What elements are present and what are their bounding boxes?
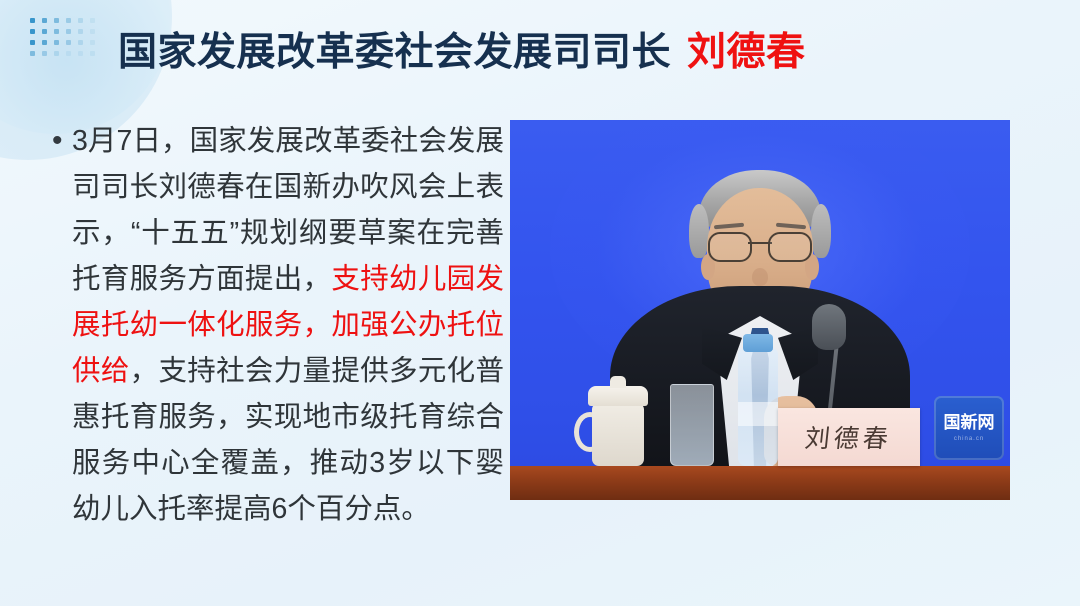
bullet-glyph: • [52, 118, 72, 164]
hair-side-right [811, 204, 831, 258]
tea-mug [592, 404, 644, 466]
dot [78, 40, 83, 45]
dot [90, 29, 95, 34]
press-conference-photo: 刘德春 国新网 china.cn [510, 120, 1010, 500]
dot [54, 40, 59, 45]
microphone-icon [812, 304, 846, 350]
page-title-main: 国家发展改革委社会发展司司长 [118, 33, 671, 72]
dot [78, 51, 83, 56]
glasses-icon [708, 232, 812, 258]
dot [42, 29, 47, 34]
badge-label: 国新网 [944, 414, 995, 431]
body-paragraph: • 3月7日，国家发展改革委社会发展司司长刘德春在国新办吹风会上表示，“十五五”… [52, 118, 504, 532]
dot [54, 18, 59, 23]
dot [30, 40, 35, 45]
dot [66, 18, 71, 23]
desk [510, 466, 1010, 500]
dot [30, 51, 35, 56]
dot [66, 29, 71, 34]
drinking-glass [670, 384, 714, 466]
badge-sublabel: china.cn [954, 436, 984, 442]
dot [66, 51, 71, 56]
nameplate: 刘德春 [778, 408, 920, 466]
broadcaster-logo-badge: 国新网 china.cn [934, 396, 1004, 460]
dot [90, 51, 95, 56]
tea-mug-knob [610, 376, 626, 388]
nose [752, 268, 768, 286]
tea-mug-lid [588, 386, 648, 406]
dot [90, 18, 95, 23]
glasses-lens-right [768, 232, 812, 262]
dot [54, 29, 59, 34]
dot [42, 40, 47, 45]
dot [30, 29, 35, 34]
dot [78, 29, 83, 34]
glasses-lens-left [708, 232, 752, 262]
page-title: 国家发展改革委社会发展司司长 刘德春 [118, 24, 806, 80]
dot [30, 18, 35, 23]
dot [90, 40, 95, 45]
water-bottle-label [738, 402, 778, 426]
dot [54, 51, 59, 56]
hair-side-left [689, 204, 709, 258]
body-text: 3月7日，国家发展改革委社会发展司司长刘德春在国新办吹风会上表示，“十五五”规划… [72, 118, 504, 532]
water-bottle-cap [743, 334, 773, 352]
dot [42, 51, 47, 56]
dot [42, 18, 47, 23]
body-text-run: ，支持社会力量提供多元化普惠托育服务，实现地市级托育综合服务中心全覆盖，推动3岁… [72, 355, 504, 525]
nameplate-text: 刘德春 [804, 419, 895, 455]
page-title-accent: 刘德春 [687, 33, 806, 72]
dot [66, 40, 71, 45]
dot-grid-decoration [30, 18, 102, 62]
photo-backdrop: 刘德春 国新网 china.cn [510, 120, 1010, 500]
slide-canvas: 国家发展改革委社会发展司司长 刘德春 • 3月7日，国家发展改革委社会发展司司长… [0, 0, 1080, 606]
dot [78, 18, 83, 23]
